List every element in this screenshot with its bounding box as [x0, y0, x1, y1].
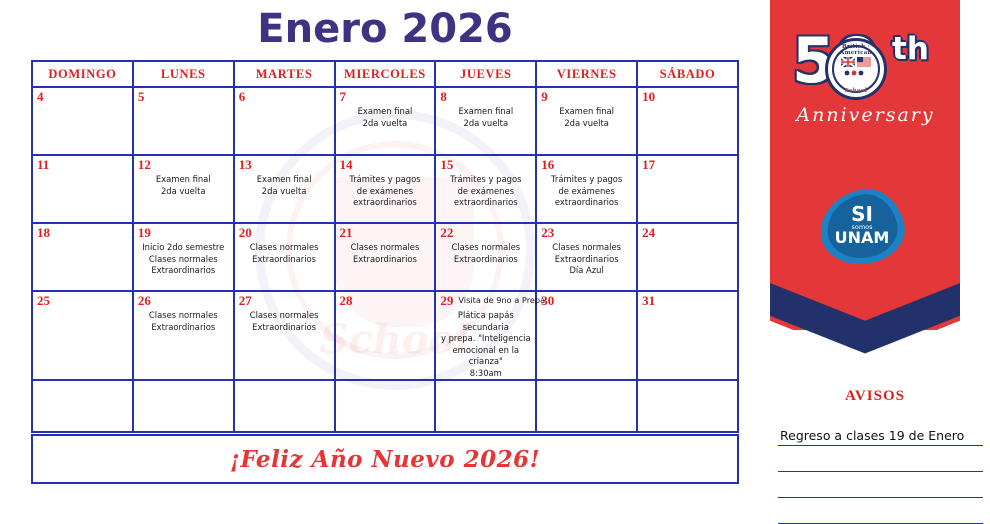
- day-event-line: Trámites y pagos: [540, 174, 633, 186]
- day-events: Plática papás secundariay prepa. "Inteli…: [436, 307, 535, 379]
- day-number: 10: [638, 88, 737, 103]
- day-number: 14: [336, 156, 435, 171]
- day-cell-inner: 16Trámites y pagosde exámenesextraordina…: [537, 156, 636, 209]
- calendar-day-cell-15[interactable]: 15Trámites y pagosde exámenesextraordina…: [435, 155, 536, 223]
- day-cell-inner: [33, 381, 132, 383]
- day-cell-inner: 9Examen final2da vuelta: [537, 88, 636, 129]
- day-event-line: emocional en la crianza": [439, 345, 532, 368]
- calendar-day-cell-14[interactable]: 14Trámites y pagosde exámenesextraordina…: [335, 155, 436, 223]
- day-number: 27: [235, 292, 334, 307]
- day-event-line: extraordinarios: [540, 197, 633, 209]
- day-number: 31: [638, 292, 737, 307]
- day-event-line: 2da vuelta: [238, 186, 331, 198]
- day-events: Clases normalesExtraordinarios: [134, 307, 233, 333]
- day-event-line: Extraordinarios: [238, 254, 331, 266]
- calendar-area: Enero 2026 School DOMINGOLUNESMARTESMIER…: [0, 0, 770, 500]
- day-event-line: Clases normales: [238, 310, 331, 322]
- day-number: 21: [336, 224, 435, 239]
- day-cell-inner: 18: [33, 224, 132, 239]
- day-event-line: Examen final: [339, 106, 432, 118]
- day-number: 17: [638, 156, 737, 171]
- calendar-day-cell-29[interactable]: 29Visita de 9no a PrepaPlática papás sec…: [435, 291, 536, 380]
- aviso-line-row[interactable]: [778, 472, 983, 498]
- day-cell-inner: 6: [235, 88, 334, 103]
- calendar-day-cell-5[interactable]: 5: [133, 87, 234, 155]
- day-cell-inner: 31: [638, 292, 737, 307]
- day-number: [33, 381, 132, 383]
- calendar-week-row: 2526Clases normalesExtraordinarios27Clas…: [32, 291, 738, 380]
- day-cell-inner: 24: [638, 224, 737, 239]
- calendar-day-cell-21[interactable]: 21Clases normalesExtraordinarios: [335, 223, 436, 291]
- weekday-header-miercoles: MIERCOLES: [335, 61, 436, 87]
- day-event-line: 2da vuelta: [137, 186, 230, 198]
- seal-bottom-text: School: [828, 88, 884, 94]
- new-year-message: ¡Feliz Año Nuevo 2026!: [230, 446, 540, 473]
- calendar-day-cell-27[interactable]: 27Clases normalesExtraordinarios: [234, 291, 335, 380]
- badge-unam-text: UNAM: [820, 229, 904, 246]
- calendar-header-row: DOMINGOLUNESMARTESMIERCOLESJUEVESVIERNES…: [32, 61, 738, 87]
- day-number: 6: [235, 88, 334, 103]
- calendar-day-cell-4[interactable]: 4: [32, 87, 133, 155]
- weekday-header-lunes: LUNES: [133, 61, 234, 87]
- calendar-week-row: 1819Inicio 2do semestreClases normalesEx…: [32, 223, 738, 291]
- calendar-week-row: 4567Examen final2da vuelta8Examen final2…: [32, 87, 738, 155]
- weekday-header-viernes: VIERNES: [536, 61, 637, 87]
- day-events: Clases normalesExtraordinarios: [436, 239, 535, 265]
- calendar-day-cell-8[interactable]: 8Examen final2da vuelta: [435, 87, 536, 155]
- anniversary-script-text: Anniversary: [778, 104, 953, 126]
- day-events: Trámites y pagosde exámenesextraordinari…: [537, 171, 636, 209]
- day-number: [336, 381, 435, 383]
- day-event-line: Extraordinarios: [540, 254, 633, 266]
- day-cell-inner: 27Clases normalesExtraordinarios: [235, 292, 334, 333]
- calendar-day-cell-16[interactable]: 16Trámites y pagosde exámenesextraordina…: [536, 155, 637, 223]
- day-number: 13: [235, 156, 334, 171]
- day-cell-inner: 26Clases normalesExtraordinarios: [134, 292, 233, 333]
- si-somos-unam-badge: SI somos UNAM: [820, 190, 904, 266]
- day-number: 18: [33, 224, 132, 239]
- calendar-day-cell-empty[interactable]: [133, 380, 234, 432]
- day-number: 15: [436, 156, 535, 171]
- day-event-line: Clases normales: [137, 310, 230, 322]
- day-cell-inner: [336, 381, 435, 383]
- day-event-line: Examen final: [238, 174, 331, 186]
- day-number: 26: [134, 292, 233, 307]
- calendar-day-cell-12[interactable]: 12Examen final2da vuelta: [133, 155, 234, 223]
- day-events: Clases normalesExtraordinarios: [235, 239, 334, 265]
- day-event-line: de exámenes: [540, 186, 633, 198]
- day-number: 19: [134, 224, 233, 239]
- day-event-line: Clases normales: [137, 254, 230, 266]
- calendar-day-cell-20[interactable]: 20Clases normalesExtraordinarios: [234, 223, 335, 291]
- calendar-day-cell-30[interactable]: 30: [536, 291, 637, 380]
- day-cell-inner: 19Inicio 2do semestreClases normalesExtr…: [134, 224, 233, 277]
- calendar-day-cell-31[interactable]: 31: [637, 291, 738, 380]
- aviso-text: Regreso a clases 19 de Enero: [780, 428, 964, 443]
- calendar-grid: DOMINGOLUNESMARTESMIERCOLESJUEVESVIERNES…: [31, 60, 739, 433]
- day-event-line: Extraordinarios: [137, 322, 230, 334]
- day-event-line: 2da vuelta: [439, 118, 532, 130]
- day-event-line: extraordinarios: [439, 197, 532, 209]
- day-cell-inner: 8Examen final2da vuelta: [436, 88, 535, 129]
- new-year-banner: ¡Feliz Año Nuevo 2026!: [31, 434, 739, 484]
- day-cell-inner: 29Visita de 9no a PrepaPlática papás sec…: [436, 292, 535, 379]
- aviso-line-row[interactable]: [778, 498, 983, 524]
- calendar-day-cell-empty[interactable]: [637, 380, 738, 432]
- day-events: Examen final2da vuelta: [436, 103, 535, 129]
- aviso-line-row[interactable]: Regreso a clases 19 de Enero: [778, 420, 983, 446]
- day-number: [537, 381, 636, 383]
- day-cell-inner: 23Clases normalesExtraordinariosDía Azul: [537, 224, 636, 277]
- day-event-line: Extraordinarios: [137, 265, 230, 277]
- calendar-day-cell-6[interactable]: 6: [234, 87, 335, 155]
- day-cell-inner: 22Clases normalesExtraordinarios: [436, 224, 535, 265]
- day-cell-inner: 15Trámites y pagosde exámenesextraordina…: [436, 156, 535, 209]
- weekday-header-sábado: SÁBADO: [637, 61, 738, 87]
- aviso-line-row[interactable]: [778, 446, 983, 472]
- day-number: 11: [33, 156, 132, 171]
- calendar-day-cell-24[interactable]: 24: [637, 223, 738, 291]
- calendar-day-cell-empty[interactable]: [536, 380, 637, 432]
- day-number: 5: [134, 88, 233, 103]
- calendar-day-cell-empty[interactable]: [435, 380, 536, 432]
- day-cell-inner: 20Clases normalesExtraordinarios: [235, 224, 334, 265]
- day-event-line: 2da vuelta: [339, 118, 432, 130]
- logo-suffix: th: [892, 34, 929, 65]
- calendar-day-cell-13[interactable]: 13Examen final2da vuelta: [234, 155, 335, 223]
- day-number: 16: [537, 156, 636, 171]
- calendar-day-cell-empty[interactable]: [32, 380, 133, 432]
- school-seal-icon: British · American School: [825, 38, 887, 100]
- day-number: [235, 381, 334, 383]
- day-number: 24: [638, 224, 737, 239]
- day-cell-inner: 10: [638, 88, 737, 103]
- day-event-line: Trámites y pagos: [339, 174, 432, 186]
- day-events: Clases normalesExtraordinarios: [235, 307, 334, 333]
- day-events: Trámites y pagosde exámenesextraordinari…: [436, 171, 535, 209]
- badge-si-text: SI: [820, 204, 904, 224]
- calendar-day-cell-11[interactable]: 11: [32, 155, 133, 223]
- weekday-header-domingo: DOMINGO: [32, 61, 133, 87]
- day-event-line: Clases normales: [540, 242, 633, 254]
- flags-icon: [841, 57, 871, 79]
- day-number: 9: [537, 88, 636, 103]
- day-events: Inicio 2do semestreClases normalesExtrao…: [134, 239, 233, 277]
- day-event-line: de exámenes: [439, 186, 532, 198]
- day-event-line: Extraordinarios: [339, 254, 432, 266]
- day-cell-inner: [235, 381, 334, 383]
- day-events: Examen final2da vuelta: [134, 171, 233, 197]
- day-event-line: de exámenes: [339, 186, 432, 198]
- day-number: 22: [436, 224, 535, 239]
- calendar-day-cell-empty[interactable]: [234, 380, 335, 432]
- day-cell-inner: 21Clases normalesExtraordinarios: [336, 224, 435, 265]
- avisos-list: Regreso a clases 19 de Enero: [778, 420, 983, 524]
- day-number: 20: [235, 224, 334, 239]
- calendar-day-cell-23[interactable]: 23Clases normalesExtraordinariosDía Azul: [536, 223, 637, 291]
- day-events: Trámites y pagosde exámenesextraordinari…: [336, 171, 435, 209]
- day-event-line: Extraordinarios: [439, 254, 532, 266]
- calendar-day-cell-10[interactable]: 10: [637, 87, 738, 155]
- day-cell-inner: [638, 381, 737, 383]
- day-events: Examen final2da vuelta: [235, 171, 334, 197]
- weekday-header-jueves: JUEVES: [435, 61, 536, 87]
- calendar-day-cell-19[interactable]: 19Inicio 2do semestreClases normalesExtr…: [133, 223, 234, 291]
- day-number: [436, 381, 535, 383]
- day-cell-inner: [436, 381, 535, 383]
- day-number: [134, 381, 233, 383]
- day-event-line: Día Azul: [540, 265, 633, 277]
- day-event-line: Examen final: [439, 106, 532, 118]
- day-number: [638, 381, 737, 383]
- day-event-line: y prepa. "Inteligencia: [439, 333, 532, 345]
- day-number: 8: [436, 88, 535, 103]
- day-event-line: Trámites y pagos: [439, 174, 532, 186]
- seal-top-text: British · American: [828, 44, 884, 56]
- anniversary-logo: 50 th British · American School: [788, 30, 943, 102]
- day-cell-inner: 11: [33, 156, 132, 171]
- day-event-line: 2da vuelta: [540, 118, 633, 130]
- day-event-line: Clases normales: [439, 242, 532, 254]
- day-cell-inner: 12Examen final2da vuelta: [134, 156, 233, 197]
- calendar-day-cell-26[interactable]: 26Clases normalesExtraordinarios: [133, 291, 234, 380]
- day-inline-note: Visita de 9no a Prepa: [458, 294, 534, 306]
- day-number: 25: [33, 292, 132, 307]
- calendar-day-cell-empty[interactable]: [335, 380, 436, 432]
- day-cell-inner: 30: [537, 292, 636, 307]
- day-number: 12: [134, 156, 233, 171]
- calendar-day-cell-22[interactable]: 22Clases normalesExtraordinarios: [435, 223, 536, 291]
- calendar-week-row: [32, 380, 738, 432]
- day-number: 30: [537, 292, 636, 307]
- calendar-week-row: 1112Examen final2da vuelta13Examen final…: [32, 155, 738, 223]
- calendar-day-cell-25[interactable]: 25: [32, 291, 133, 380]
- day-cell-inner: 13Examen final2da vuelta: [235, 156, 334, 197]
- calendar-day-cell-18[interactable]: 18: [32, 223, 133, 291]
- day-event-line: 8:30am: [439, 368, 532, 380]
- day-cell-inner: 17: [638, 156, 737, 171]
- day-event-line: Clases normales: [238, 242, 331, 254]
- day-event-line: Extraordinarios: [238, 322, 331, 334]
- calendar-day-cell-7[interactable]: 7Examen final2da vuelta: [335, 87, 436, 155]
- day-cell-inner: 5: [134, 88, 233, 103]
- day-event-line: Clases normales: [339, 242, 432, 254]
- calendar-day-cell-9[interactable]: 9Examen final2da vuelta: [536, 87, 637, 155]
- day-number: 28: [336, 292, 435, 307]
- calendar-day-cell-17[interactable]: 17: [637, 155, 738, 223]
- day-cell-inner: [134, 381, 233, 383]
- day-event-line: Plática papás secundaria: [439, 310, 532, 333]
- day-events: Examen final2da vuelta: [537, 103, 636, 129]
- weekday-header-martes: MARTES: [234, 61, 335, 87]
- right-side-panel: 50 th British · American School: [770, 0, 990, 500]
- day-cell-inner: 28: [336, 292, 435, 307]
- day-cell-inner: 4: [33, 88, 132, 103]
- calendar-day-cell-28[interactable]: 28: [335, 291, 436, 380]
- day-number: 23: [537, 224, 636, 239]
- day-event-line: Examen final: [540, 106, 633, 118]
- avisos-heading: AVISOS: [770, 388, 980, 405]
- day-cell-inner: 7Examen final2da vuelta: [336, 88, 435, 129]
- day-event-line: Examen final: [137, 174, 230, 186]
- day-cell-inner: 25: [33, 292, 132, 307]
- day-event-line: extraordinarios: [339, 197, 432, 209]
- day-events: Clases normalesExtraordinarios: [336, 239, 435, 265]
- day-cell-inner: [537, 381, 636, 383]
- day-events: Examen final2da vuelta: [336, 103, 435, 129]
- day-number: 4: [33, 88, 132, 103]
- day-number: 7: [336, 88, 435, 103]
- day-event-line: Inicio 2do semestre: [137, 242, 230, 254]
- day-events: Clases normalesExtraordinariosDía Azul: [537, 239, 636, 277]
- day-cell-inner: 14Trámites y pagosde exámenesextraordina…: [336, 156, 435, 209]
- page-title: Enero 2026: [0, 6, 770, 52]
- calendar-page: Enero 2026 School DOMINGOLUNESMARTESMIER…: [0, 0, 990, 500]
